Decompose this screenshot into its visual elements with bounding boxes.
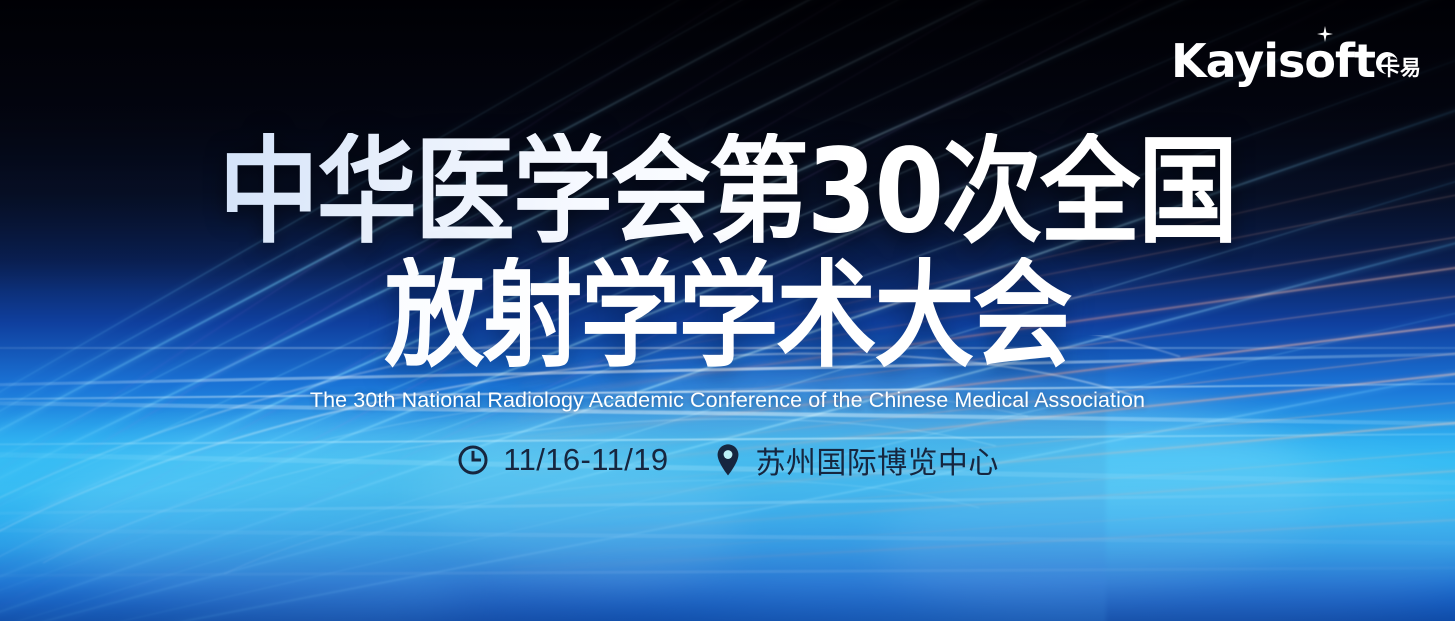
conference-banner: Kayisoft 卡易 中华医学会第30次全国 放射学学术大会 The 30th…: [0, 0, 1455, 621]
kayisoft-logo[interactable]: Kayisoft 卡易: [1171, 38, 1421, 84]
conference-venue-label: 苏州国际博览中心: [756, 438, 999, 482]
logo-wordmark-text: Kayisoft: [1171, 34, 1375, 88]
conference-subtitle-english: The 30th National Radiology Academic Con…: [0, 388, 1455, 413]
conference-venue: 苏州国际博览中心: [713, 438, 999, 482]
clock-icon: [456, 443, 490, 477]
conference-meta-row: 11/16-11/19 苏州国际博览中心: [0, 438, 1455, 482]
conference-date-label: 11/16-11/19: [503, 442, 668, 478]
title-line-1: 中华医学会第30次全国: [0, 133, 1455, 251]
conference-date: 11/16-11/19: [456, 442, 668, 478]
sparkle-icon: [1317, 26, 1333, 42]
conference-title: 中华医学会第30次全国 放射学学术大会: [0, 133, 1455, 359]
location-pin-icon: [713, 443, 743, 477]
logo-wordmark: Kayisoft: [1171, 38, 1375, 84]
title-line-2: 放射学学术大会: [0, 257, 1455, 375]
logo-chinese-mark: 卡易: [1379, 58, 1421, 84]
